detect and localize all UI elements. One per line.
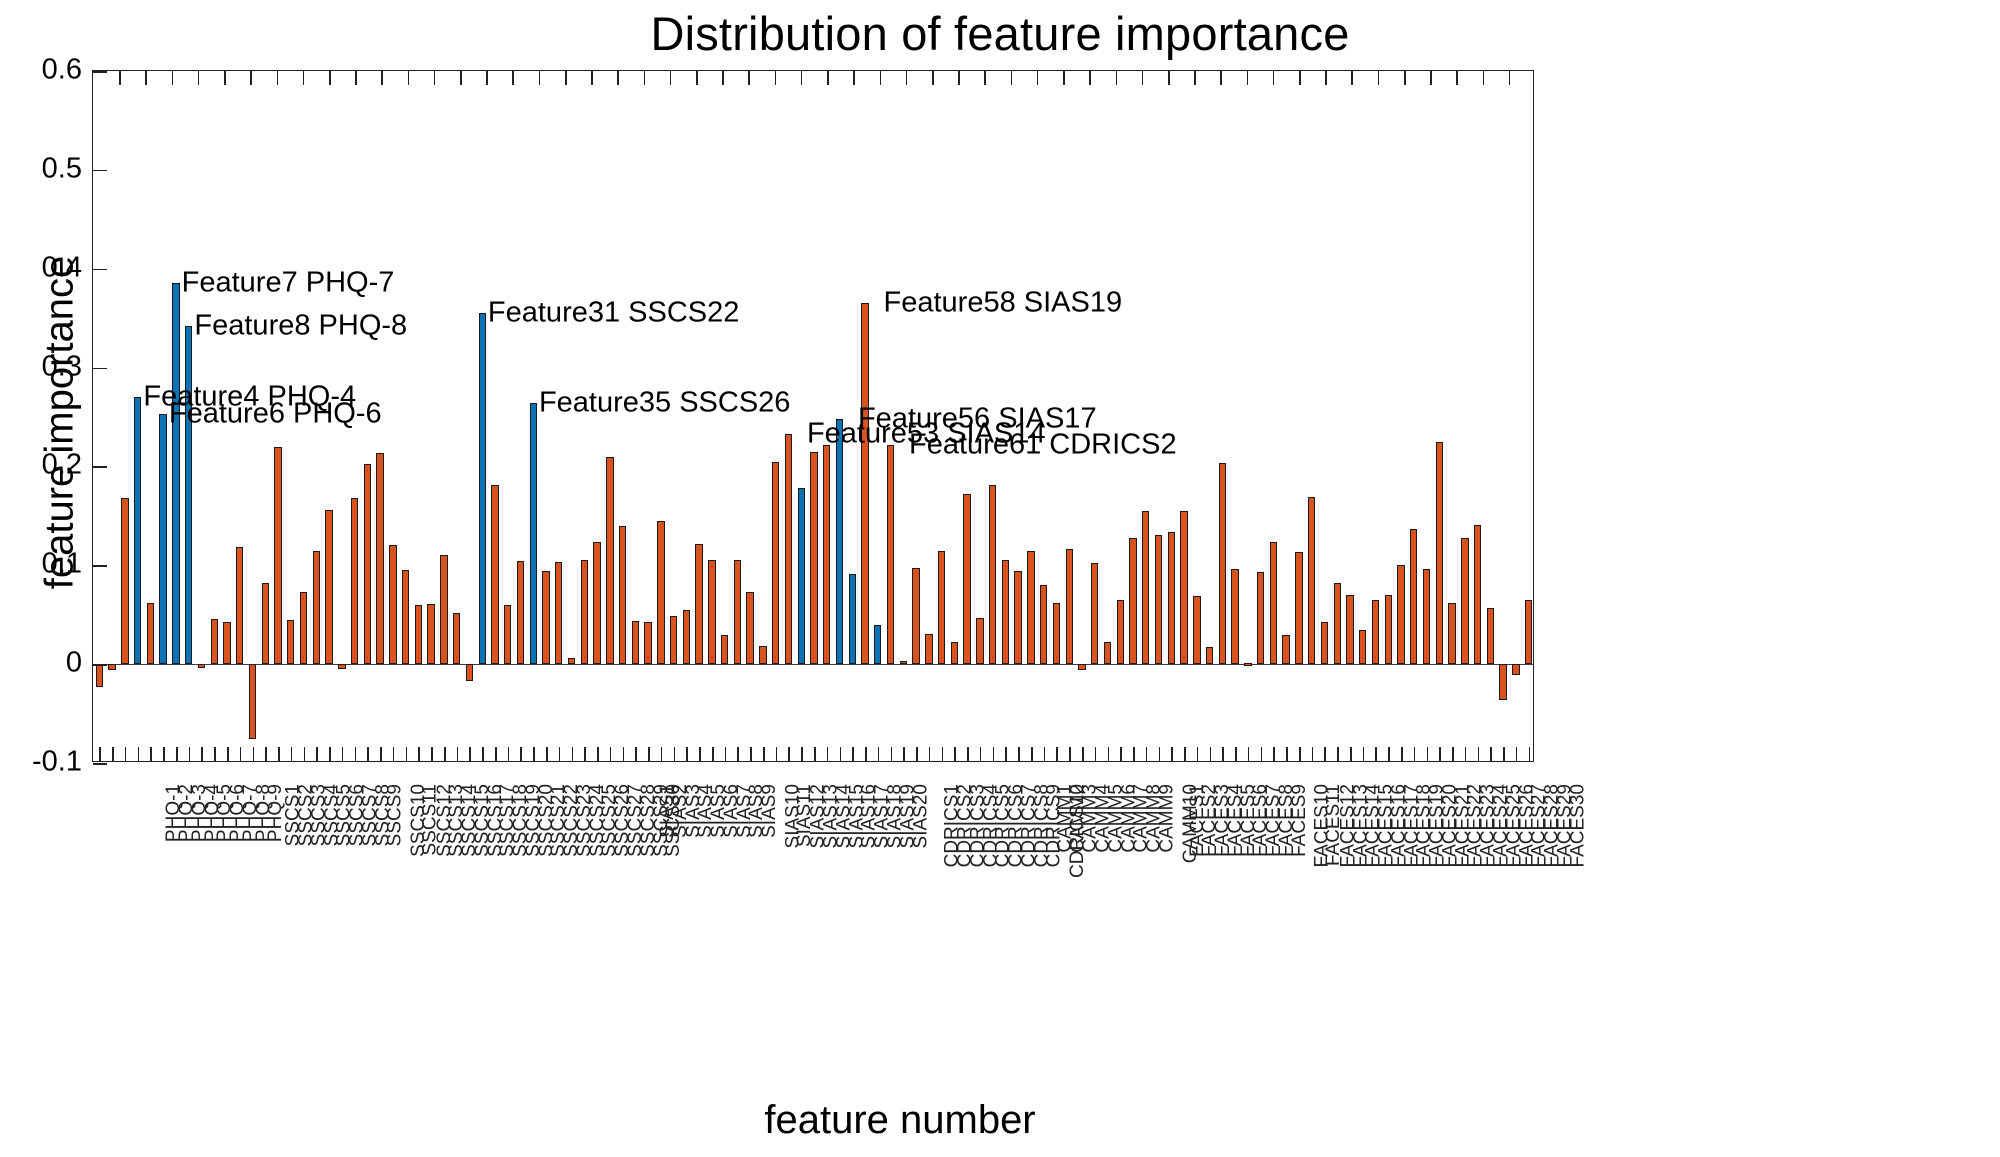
bar-SSCS17 bbox=[415, 605, 422, 664]
bar-SSCS10 bbox=[325, 510, 332, 664]
top-tick-mark bbox=[486, 71, 488, 85]
x-tick-mark bbox=[1312, 747, 1314, 761]
bar-SIAS17 bbox=[798, 488, 805, 664]
bar-CAMM4 bbox=[1014, 571, 1021, 664]
top-tick-mark bbox=[932, 71, 934, 85]
bar-SSCS24 bbox=[504, 605, 511, 664]
x-tick-mark bbox=[814, 747, 816, 761]
x-axis-label: feature number bbox=[300, 1098, 1500, 1143]
x-tick-mark bbox=[1273, 747, 1275, 761]
x-tick-mark bbox=[1056, 747, 1058, 761]
annotation-label: Feature35 SSCS26 bbox=[539, 387, 790, 420]
top-tick-mark bbox=[591, 71, 593, 85]
x-tick-mark bbox=[750, 747, 752, 761]
bar-SIAS15 bbox=[772, 462, 779, 664]
bar-SIAS19 bbox=[823, 445, 830, 664]
x-tick-mark bbox=[737, 747, 739, 761]
x-tick-mark bbox=[482, 747, 484, 761]
plot-inner: Feature7 PHQ-7Feature8 PHQ-8Feature4 PHQ… bbox=[93, 71, 1533, 761]
x-tick-mark bbox=[214, 747, 216, 761]
x-tick-mark bbox=[125, 747, 127, 761]
bar-SSCS27 bbox=[542, 571, 549, 664]
bar-PHQ-4 bbox=[134, 397, 141, 664]
x-tick-mark bbox=[1414, 747, 1416, 761]
x-tick-mark bbox=[176, 747, 178, 761]
y-tick-label: 0 bbox=[2, 647, 82, 680]
top-tick-mark bbox=[1378, 71, 1380, 85]
bar-CAMM7 bbox=[1053, 603, 1060, 664]
x-tick-mark bbox=[1018, 747, 1020, 761]
top-tick-mark bbox=[1404, 71, 1406, 85]
bar-CAMM6 bbox=[1040, 585, 1047, 664]
bar-SIAS9 bbox=[695, 544, 702, 665]
top-tick-mark bbox=[696, 71, 698, 85]
x-tick-mark bbox=[1171, 747, 1173, 761]
bar-PHQ-6 bbox=[159, 414, 166, 664]
annotation-label: Feature7 PHQ-7 bbox=[182, 266, 395, 299]
bar-CDRICS1 bbox=[849, 574, 856, 664]
x-tick-mark bbox=[1133, 747, 1135, 761]
x-tick-mark bbox=[827, 747, 829, 761]
x-tick-mark bbox=[457, 747, 459, 761]
top-tick-mark bbox=[722, 71, 724, 85]
x-tick-mark bbox=[304, 747, 306, 761]
x-tick-mark bbox=[1005, 747, 1007, 761]
bar-undefined bbox=[1525, 600, 1532, 664]
bar-FACES12 bbox=[1244, 663, 1251, 666]
x-tick-mark bbox=[418, 747, 420, 761]
x-tick-mark bbox=[1069, 747, 1071, 761]
bar-SIAS1 bbox=[593, 542, 600, 665]
top-tick-mark bbox=[172, 71, 174, 85]
x-tick-mark bbox=[776, 747, 778, 761]
bar-SSCS11 bbox=[338, 664, 345, 669]
x-tick-mark bbox=[342, 747, 344, 761]
x-tick-mark bbox=[1337, 747, 1339, 761]
top-tick-mark bbox=[1509, 71, 1511, 85]
bar-CAMM5 bbox=[1027, 551, 1034, 664]
x-tick-mark bbox=[865, 747, 867, 761]
bar-SSCS26 bbox=[530, 403, 537, 664]
bar-SIAS14 bbox=[759, 646, 766, 664]
bar-undefined bbox=[1487, 608, 1494, 664]
bar-FACES16 bbox=[1295, 552, 1302, 664]
bar-undefined bbox=[1512, 664, 1519, 675]
top-tick-mark bbox=[329, 71, 331, 85]
y-tick-mark bbox=[93, 170, 107, 172]
x-tick-mark bbox=[355, 747, 357, 761]
bar-SSCS2 bbox=[223, 622, 230, 665]
bar-FACES3 bbox=[1129, 538, 1136, 665]
x-tick-mark bbox=[1401, 747, 1403, 761]
y-tick-label: 0.5 bbox=[2, 152, 82, 185]
bar-CAMM1 bbox=[976, 618, 983, 664]
y-tick-label: 0.1 bbox=[2, 548, 82, 581]
bar-SSCS6 bbox=[274, 447, 281, 664]
x-tick-mark bbox=[584, 747, 586, 761]
bar-CDRICS5 bbox=[900, 661, 907, 664]
top-tick-mark bbox=[250, 71, 252, 85]
bar-SSCS16 bbox=[402, 570, 409, 664]
top-tick-mark bbox=[1089, 71, 1091, 85]
top-tick-mark bbox=[381, 71, 383, 85]
top-tick-mark bbox=[303, 71, 305, 85]
bar-PHQ-9 bbox=[198, 664, 205, 668]
bar-SIAS16 bbox=[785, 434, 792, 664]
bar-FACES26 bbox=[1423, 569, 1430, 664]
x-tick-mark bbox=[878, 747, 880, 761]
x-tick-mark bbox=[1210, 747, 1212, 761]
x-tick-mark bbox=[189, 747, 191, 761]
top-tick-mark bbox=[670, 71, 672, 85]
bar-FACES9 bbox=[1206, 647, 1213, 664]
x-tick-mark bbox=[674, 747, 676, 761]
x-tick-mark bbox=[469, 747, 471, 761]
bar-SSCS23 bbox=[491, 485, 498, 664]
x-tick-mark bbox=[929, 747, 931, 761]
top-tick-mark bbox=[1220, 71, 1222, 85]
bar-CAMM8 bbox=[1066, 549, 1073, 664]
bar-CDRICS8 bbox=[938, 551, 945, 664]
x-tick-mark bbox=[1516, 747, 1518, 761]
x-tick-mark bbox=[725, 747, 727, 761]
x-tick-mark bbox=[1031, 747, 1033, 761]
bar-SSCS21 bbox=[466, 664, 473, 681]
x-tick-label-SIAS9: SIAS9 bbox=[759, 784, 781, 838]
x-tick-mark bbox=[1120, 747, 1122, 761]
x-tick-mark bbox=[1478, 747, 1480, 761]
bar-SSCS25 bbox=[517, 561, 524, 664]
x-tick-mark bbox=[916, 747, 918, 761]
zero-baseline bbox=[93, 664, 1533, 665]
bar-CDRICS6 bbox=[912, 568, 919, 664]
bar-SSCS28 bbox=[555, 562, 562, 664]
annotation-label: Feature61 CDRICS2 bbox=[909, 428, 1177, 461]
top-tick-mark bbox=[119, 71, 121, 85]
x-tick-mark bbox=[712, 747, 714, 761]
x-tick-mark bbox=[265, 747, 267, 761]
x-tick-mark bbox=[763, 747, 765, 761]
bar-SSCS7 bbox=[287, 620, 294, 664]
x-tick-mark bbox=[1350, 747, 1352, 761]
bar-SSCS22 bbox=[479, 313, 486, 664]
bar-FACES29 bbox=[1461, 538, 1468, 665]
x-tick-label-SSCS9: SSCS9 bbox=[385, 784, 407, 846]
x-tick-mark bbox=[801, 747, 803, 761]
x-tick-mark bbox=[1490, 747, 1492, 761]
x-tick-mark bbox=[954, 747, 956, 761]
y-tick-mark bbox=[93, 269, 107, 271]
top-tick-mark bbox=[1116, 71, 1118, 85]
bar-FACES27 bbox=[1436, 442, 1443, 664]
x-tick-mark bbox=[1439, 747, 1441, 761]
x-tick-mark bbox=[316, 747, 318, 761]
top-tick-mark bbox=[1273, 71, 1275, 85]
annotation-label: Feature6 PHQ-6 bbox=[169, 398, 382, 431]
top-tick-mark bbox=[984, 71, 986, 85]
x-tick-mark bbox=[1044, 747, 1046, 761]
bar-SSCS15 bbox=[389, 545, 396, 665]
x-tick-mark bbox=[1159, 747, 1161, 761]
bar-PHQ-2 bbox=[108, 664, 115, 670]
chart-canvas: Distribution of feature importance featu… bbox=[0, 0, 2000, 1157]
top-tick-mark bbox=[1299, 71, 1301, 85]
x-tick-mark bbox=[367, 747, 369, 761]
bar-CDRICS3 bbox=[874, 625, 881, 665]
x-tick-mark bbox=[201, 747, 203, 761]
x-tick-mark bbox=[1388, 747, 1390, 761]
bar-SSCS1 bbox=[211, 619, 218, 664]
top-tick-mark bbox=[617, 71, 619, 85]
bar-FACES6 bbox=[1168, 532, 1175, 664]
x-tick-mark bbox=[1248, 747, 1250, 761]
y-tick-mark bbox=[93, 368, 107, 370]
x-tick-mark bbox=[1286, 747, 1288, 761]
x-tick-mark bbox=[1082, 747, 1084, 761]
x-tick-mark bbox=[942, 747, 944, 761]
bar-SSCS19 bbox=[440, 555, 447, 664]
x-tick-mark bbox=[1197, 747, 1199, 761]
bar-FACES7 bbox=[1180, 511, 1187, 664]
x-tick-mark bbox=[1108, 747, 1110, 761]
bar-SSCS29 bbox=[568, 658, 575, 664]
bar-FACES21 bbox=[1359, 630, 1366, 665]
bar-SSCS9 bbox=[313, 551, 320, 664]
bar-FACES14 bbox=[1270, 542, 1277, 665]
y-tick-label: 0.4 bbox=[2, 251, 82, 284]
bar-SIAS18 bbox=[810, 452, 817, 665]
top-tick-mark bbox=[1351, 71, 1353, 85]
x-tick-mark bbox=[840, 747, 842, 761]
y-tick-mark bbox=[93, 763, 107, 765]
x-tick-mark bbox=[788, 747, 790, 761]
y-tick-mark bbox=[93, 664, 107, 666]
x-tick-mark bbox=[240, 747, 242, 761]
x-tick-mark bbox=[227, 747, 229, 761]
bar-FACES11 bbox=[1231, 569, 1238, 664]
top-tick-mark bbox=[224, 71, 226, 85]
x-tick-mark bbox=[431, 747, 433, 761]
bar-SIAS20 bbox=[836, 419, 843, 664]
bar-SSCS5 bbox=[262, 583, 269, 664]
bar-FACES28 bbox=[1448, 603, 1455, 664]
top-tick-mark bbox=[853, 71, 855, 85]
bar-FACES4 bbox=[1142, 511, 1149, 664]
top-tick-mark bbox=[198, 71, 200, 85]
bar-SSCS13 bbox=[364, 464, 371, 664]
x-tick-mark bbox=[852, 747, 854, 761]
x-tick-mark bbox=[1146, 747, 1148, 761]
bar-CDRICS2 bbox=[861, 303, 868, 664]
x-tick-mark bbox=[1095, 747, 1097, 761]
bar-CDRICS9 bbox=[951, 642, 958, 664]
x-tick-mark bbox=[648, 747, 650, 761]
bar-SIAS13 bbox=[746, 592, 753, 664]
x-tick-label-CAMM9: CAMM9 bbox=[1157, 784, 1179, 853]
bar-SIAS6 bbox=[657, 521, 664, 664]
bar-SIAS8 bbox=[683, 610, 690, 664]
bar-PHQ-3 bbox=[121, 498, 128, 664]
top-tick-mark bbox=[1430, 71, 1432, 85]
top-tick-mark bbox=[1037, 71, 1039, 85]
x-tick-mark bbox=[1261, 747, 1263, 761]
x-tick-mark bbox=[393, 747, 395, 761]
x-tick-mark bbox=[686, 747, 688, 761]
top-tick-mark bbox=[408, 71, 410, 85]
top-tick-mark bbox=[1011, 71, 1013, 85]
x-tick-mark bbox=[1299, 747, 1301, 761]
x-tick-mark bbox=[444, 747, 446, 761]
bar-FACES23 bbox=[1385, 595, 1392, 664]
x-tick-mark bbox=[597, 747, 599, 761]
x-tick-mark bbox=[980, 747, 982, 761]
bar-FACES8 bbox=[1193, 596, 1200, 664]
annotation-label: Feature58 SIAS19 bbox=[884, 287, 1123, 320]
y-tick-label: 0.6 bbox=[2, 54, 82, 87]
bar-FACES13 bbox=[1257, 572, 1264, 664]
x-tick-mark bbox=[1452, 747, 1454, 761]
x-tick-mark bbox=[495, 747, 497, 761]
bar-FACES18 bbox=[1321, 622, 1328, 665]
top-tick-mark bbox=[277, 71, 279, 85]
bar-SIAS3 bbox=[619, 526, 626, 664]
top-tick-mark bbox=[775, 71, 777, 85]
bar-SSCS4 bbox=[249, 664, 256, 739]
x-tick-mark bbox=[508, 747, 510, 761]
x-tick-mark bbox=[380, 747, 382, 761]
x-tick-mark bbox=[1184, 747, 1186, 761]
bar-FACES20 bbox=[1346, 595, 1353, 664]
x-tick-mark bbox=[635, 747, 637, 761]
x-tick-mark bbox=[1465, 747, 1467, 761]
x-tick-mark bbox=[903, 747, 905, 761]
bar-FACES30 bbox=[1474, 525, 1481, 664]
top-tick-mark bbox=[958, 71, 960, 85]
bar-SIAS12 bbox=[734, 560, 741, 664]
bar-CAMM3 bbox=[1002, 560, 1009, 664]
bar-PHQ-1 bbox=[96, 664, 103, 687]
bar-SSCS3 bbox=[236, 547, 243, 665]
bar-FACES2 bbox=[1117, 600, 1124, 664]
bar-SIAS4 bbox=[632, 621, 639, 664]
x-tick-mark bbox=[533, 747, 535, 761]
bar-FACES17 bbox=[1308, 497, 1315, 664]
top-tick-mark bbox=[1456, 71, 1458, 85]
top-tick-mark bbox=[539, 71, 541, 85]
bar-undefined bbox=[1499, 664, 1506, 700]
bar-FACES24 bbox=[1397, 565, 1404, 664]
x-tick-mark bbox=[1324, 747, 1326, 761]
top-tick-mark bbox=[460, 71, 462, 85]
top-tick-mark bbox=[1325, 71, 1327, 85]
x-tick-mark bbox=[699, 747, 701, 761]
x-tick-label-FACES30: FACES30 bbox=[1567, 784, 1589, 867]
top-tick-mark bbox=[355, 71, 357, 85]
bar-FACES1 bbox=[1104, 642, 1111, 664]
x-tick-mark bbox=[329, 747, 331, 761]
top-tick-mark bbox=[801, 71, 803, 85]
x-tick-mark bbox=[291, 747, 293, 761]
bar-SIAS11 bbox=[721, 635, 728, 664]
top-tick-mark bbox=[748, 71, 750, 85]
top-tick-mark bbox=[1483, 71, 1485, 85]
bar-FACES22 bbox=[1372, 600, 1379, 664]
x-tick-mark bbox=[112, 747, 114, 761]
top-tick-mark bbox=[1168, 71, 1170, 85]
plot-area: Feature7 PHQ-7Feature8 PHQ-8Feature4 PHQ… bbox=[92, 70, 1534, 762]
x-tick-mark bbox=[520, 747, 522, 761]
x-tick-mark bbox=[1222, 747, 1224, 761]
bar-FACES10 bbox=[1219, 463, 1226, 664]
bar-SSCS18 bbox=[427, 604, 434, 664]
x-tick-mark bbox=[623, 747, 625, 761]
bar-SIAS10 bbox=[708, 560, 715, 664]
top-tick-mark bbox=[434, 71, 436, 85]
x-tick-mark bbox=[163, 747, 165, 761]
bar-CDRICS4 bbox=[887, 445, 894, 664]
bar-SSCS8 bbox=[300, 592, 307, 664]
x-tick-mark bbox=[1503, 747, 1505, 761]
x-tick-mark bbox=[967, 747, 969, 761]
x-tick-mark bbox=[1529, 747, 1531, 761]
y-tick-mark bbox=[93, 71, 107, 73]
bar-FACES19 bbox=[1334, 583, 1341, 664]
bar-FACES25 bbox=[1410, 529, 1417, 664]
x-tick-mark bbox=[891, 747, 893, 761]
bar-SSCS20 bbox=[453, 613, 460, 664]
x-tick-mark bbox=[99, 747, 101, 761]
top-tick-mark bbox=[1247, 71, 1249, 85]
bar-CAMM10 bbox=[1091, 563, 1098, 664]
y-tick-label: 0.3 bbox=[2, 350, 82, 383]
bar-SIAS7 bbox=[670, 616, 677, 664]
bar-FACES5 bbox=[1155, 535, 1162, 665]
x-tick-mark bbox=[610, 747, 612, 761]
y-tick-mark bbox=[93, 466, 107, 468]
annotation-label: Feature8 PHQ-8 bbox=[194, 310, 407, 343]
bar-CAMM9 bbox=[1078, 664, 1085, 670]
x-tick-mark bbox=[1427, 747, 1429, 761]
x-tick-mark bbox=[661, 747, 663, 761]
x-tick-mark bbox=[253, 747, 255, 761]
x-tick-label-FACES9: FACES9 bbox=[1288, 784, 1310, 857]
bar-SSCS12 bbox=[351, 498, 358, 664]
x-tick-mark bbox=[1363, 747, 1365, 761]
x-tick-label-SIAS20: SIAS20 bbox=[910, 784, 932, 848]
top-tick-mark bbox=[644, 71, 646, 85]
y-tick-label: 0.2 bbox=[2, 449, 82, 482]
bar-SSCS14 bbox=[376, 453, 383, 665]
x-tick-mark bbox=[1235, 747, 1237, 761]
top-tick-mark bbox=[565, 71, 567, 85]
x-tick-mark bbox=[138, 747, 140, 761]
bar-CDRICS10 bbox=[963, 494, 970, 664]
bar-CAMM2 bbox=[989, 485, 996, 664]
y-tick-label: -0.1 bbox=[2, 746, 82, 779]
x-tick-mark bbox=[993, 747, 995, 761]
bar-SSCS30 bbox=[581, 560, 588, 664]
bar-PHQ-7 bbox=[172, 283, 179, 665]
x-tick-mark bbox=[406, 747, 408, 761]
bar-SIAS5 bbox=[644, 622, 651, 665]
top-tick-mark bbox=[906, 71, 908, 85]
top-tick-mark bbox=[1142, 71, 1144, 85]
x-tick-mark bbox=[546, 747, 548, 761]
x-tick-mark bbox=[572, 747, 574, 761]
bar-FACES15 bbox=[1282, 635, 1289, 664]
annotation-label: Feature31 SSCS22 bbox=[488, 297, 739, 330]
x-tick-mark bbox=[278, 747, 280, 761]
